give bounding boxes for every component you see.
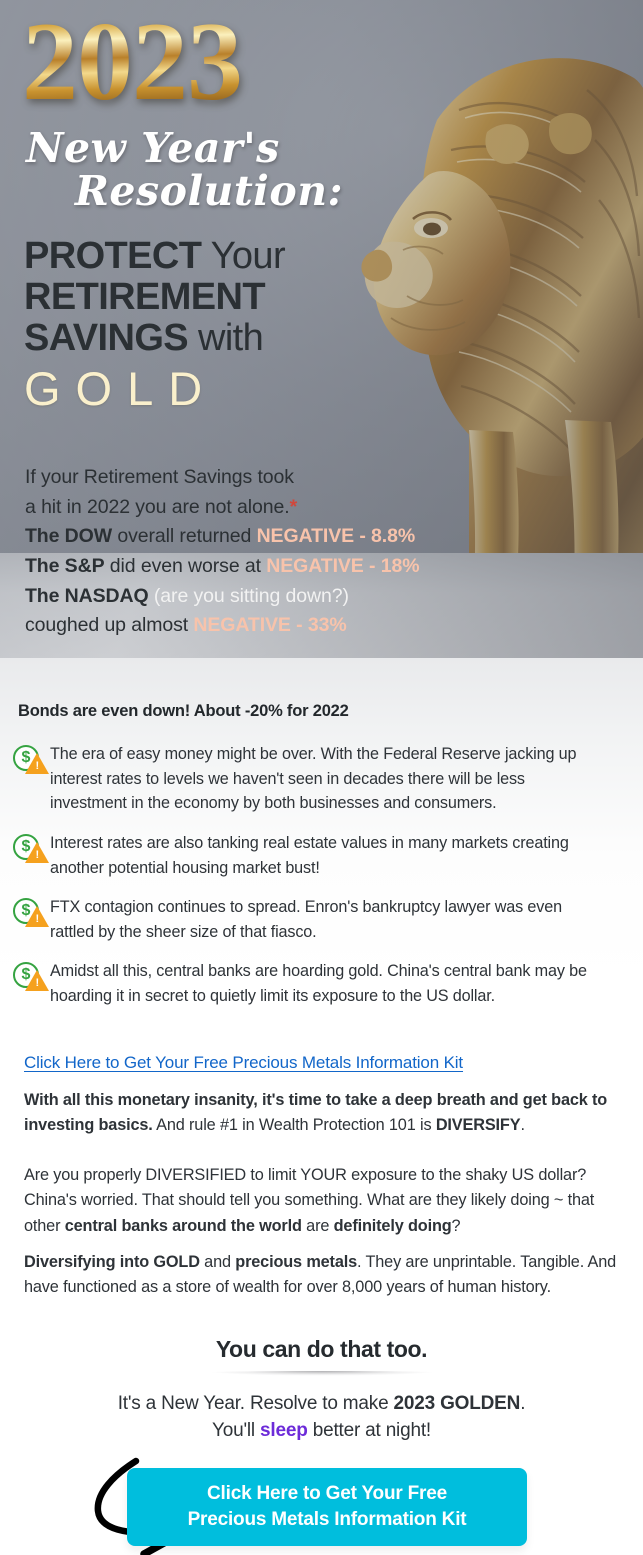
info-kit-link[interactable]: Click Here to Get Your Free Precious Met… [24,1053,463,1073]
dollar-warning-icon: ! [8,962,50,996]
dollar-warning-icon: ! [8,745,50,779]
hero-headline: PROTECT Your RETIREMENT SAVINGS with GOL… [24,236,384,414]
headline-protect: PROTECT [24,235,201,277]
email-advertisement-page: 2023 New Year's Resolution: PROTECT Your… [0,0,643,1555]
bullet-text: Interest rates are also tanking real est… [50,831,630,880]
cta-line-1: Click Here to Get Your Free [207,1481,447,1507]
list-item: ! Interest rates are also tanking real e… [8,831,630,880]
dollar-warning-icon: ! [8,834,50,868]
warning-exclamation-icon: ! [36,914,40,925]
dollar-warning-icon: ! [8,898,50,932]
you-can-do-that-too: You can do that too. [216,1336,427,1369]
script-line-1: New Year's [26,124,280,172]
list-item: ! FTX contagion continues to spread. Enr… [8,895,630,944]
paragraph-monetary-insanity: With all this monetary insanity, it's ti… [24,1088,624,1139]
year-headline: 2023 [22,6,242,118]
bonds-headline: Bonds are even down! About -20% for 2022 [18,702,349,721]
paragraph-diversifying-gold: Diversifying into GOLD and precious meta… [24,1250,624,1301]
headline-savings: SAVINGS [24,317,188,359]
bullet-text: Amidst all this, central banks are hoard… [50,959,630,1008]
warning-exclamation-icon: ! [36,761,40,772]
divider-shadow [177,1371,467,1377]
hero-banner: 2023 New Year's Resolution: PROTECT Your… [0,0,643,658]
headline-your: Your [201,235,285,277]
headline-with: with [188,317,263,359]
stat-sp: The S&P did even worse at NEGATIVE - 18% [25,552,450,582]
list-item: ! Amidst all this, central banks are hoa… [8,959,630,1008]
body-content: Bonds are even down! About -20% for 2022… [0,658,643,1555]
cta-button[interactable]: Click Here to Get Your Free Precious Met… [127,1468,527,1546]
stat-dow: The DOW overall returned NEGATIVE - 8.8% [25,522,450,552]
warning-exclamation-icon: ! [36,978,40,989]
warning-exclamation-icon: ! [36,850,40,861]
resolve-text: It's a New Year. Resolve to make 2023 GO… [0,1391,643,1445]
bullet-text: The era of easy money might be over. Wit… [50,742,630,816]
cta-line-2: Precious Metals Information Kit [188,1507,467,1533]
bullet-text: FTX contagion continues to spread. Enron… [50,895,630,944]
headline-retirement: RETIREMENT [24,276,265,318]
stats-intro-line-1: If your Retirement Savings took [25,463,450,493]
p1-bold-diversify: DIVERSIFY [436,1116,521,1134]
script-subtitle: New Year's Resolution: [26,127,356,212]
you-can-do-that-too-wrap: You can do that too. [0,1336,643,1369]
market-stats-block: If your Retirement Savings took a hit in… [25,463,450,641]
script-line-2: Resolution: [26,170,356,213]
footnote-asterisk: * [290,496,298,518]
bullet-list: ! The era of easy money might be over. W… [8,742,630,1024]
stat-nasdaq-line-1: The NASDAQ (are you sitting down?) [25,582,450,612]
sleep-highlight: sleep [260,1420,308,1441]
stat-nasdaq-line-2: coughed up almost NEGATIVE - 33% [25,611,450,641]
headline-gold: GOLD [24,363,384,414]
paragraph-diversified-question: Are you properly DIVERSIFIED to limit YO… [24,1163,624,1239]
stats-intro-line-2: a hit in 2022 you are not alone.* [25,493,450,523]
list-item: ! The era of easy money might be over. W… [8,742,630,816]
